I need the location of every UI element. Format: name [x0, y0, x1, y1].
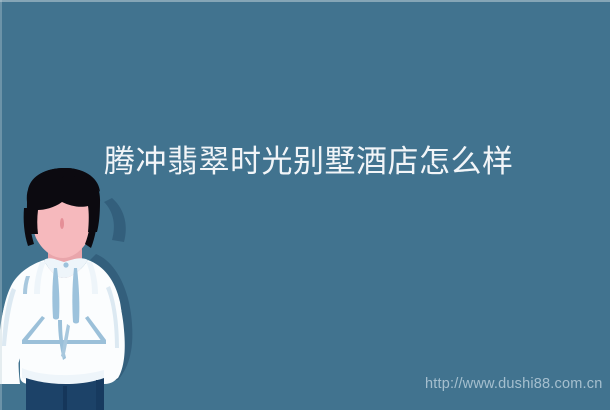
- head-shadow: [104, 198, 126, 242]
- nose-icon: [60, 218, 64, 229]
- page-title: 腾冲翡翠时光别墅酒店怎么样: [104, 139, 564, 185]
- trousers-center-seam: [63, 386, 67, 410]
- trousers-shadow: [96, 378, 104, 410]
- watermark-url: http://www.dushi88.com.cn: [425, 376, 602, 392]
- hood-eyelet-icon: [63, 262, 68, 267]
- person-illustration: [0, 168, 175, 410]
- person-illustration-svg: [0, 168, 175, 410]
- article-cover-image: 腾冲翡翠时光别墅酒店怎么样 http://www.dushi88.com.cn: [0, 0, 610, 410]
